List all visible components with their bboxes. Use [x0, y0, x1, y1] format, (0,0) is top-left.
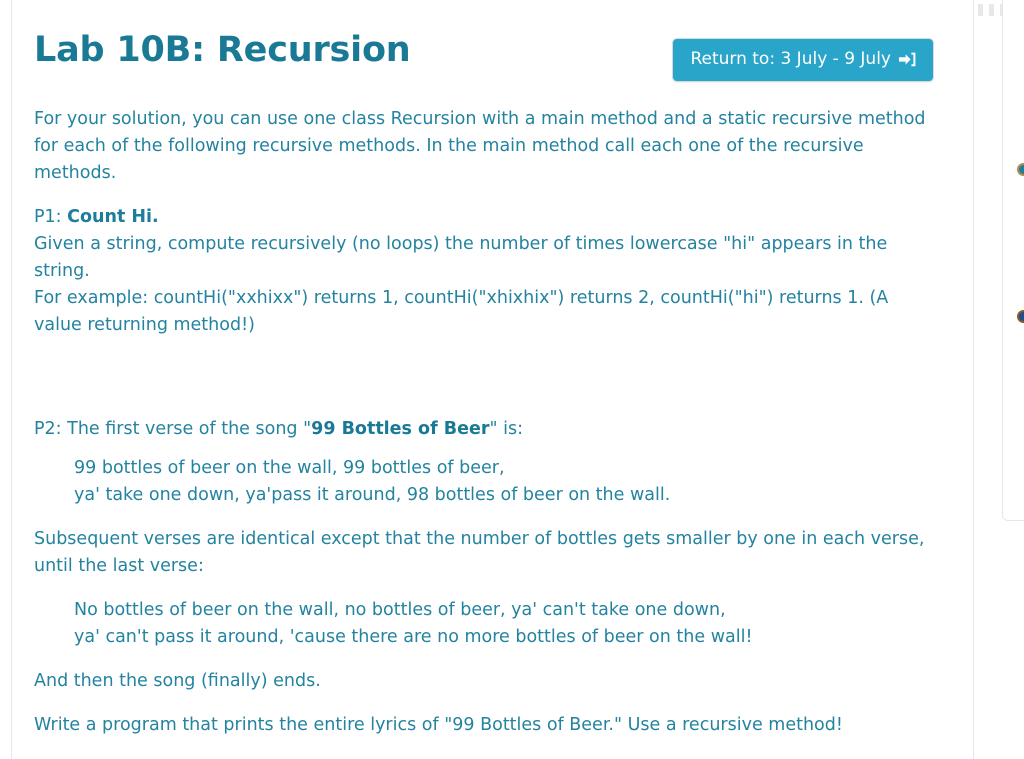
right-panel-list-item[interactable] — [1017, 310, 1024, 323]
sign-in-icon — [899, 52, 916, 67]
activity-content-inner: Lab 10B: Recursion Return to: 3 July - 9… — [12, 0, 973, 739]
spacer-paragraph — [34, 351, 939, 378]
subsequent-verses-paragraph: Subsequent verses are identical except t… — [34, 526, 939, 580]
right-panel-list-item[interactable] — [1017, 163, 1024, 176]
task-paragraph: Write a program that prints the entire l… — [34, 712, 939, 739]
last-verse-block: No bottles of beer on the wall, no bottl… — [34, 597, 939, 651]
page-root: Lab 10B: Recursion Return to: 3 July - 9… — [0, 0, 1024, 759]
activity-header: Lab 10B: Recursion Return to: 3 July - 9… — [34, 30, 939, 82]
problem-1-title: Count Hi. — [67, 207, 159, 227]
first-verse-line-2: ya' take one down, ya'pass it around, 98… — [74, 482, 939, 509]
bullet-icon — [1017, 310, 1024, 323]
return-to-section-button[interactable]: Return to: 3 July - 9 July — [672, 38, 934, 82]
page-title: Lab 10B: Recursion — [34, 30, 411, 70]
activity-description: For your solution, you can use one class… — [34, 106, 939, 739]
return-button-label: Return to: 3 July - 9 July — [690, 51, 891, 68]
song-ending-paragraph: And then the song (finally) ends. — [34, 668, 939, 695]
bullet-icon — [1017, 163, 1024, 176]
activity-content-panel: Lab 10B: Recursion Return to: 3 July - 9… — [11, 0, 974, 759]
problem-1-heading-line: P1: Count Hi. — [34, 204, 939, 231]
last-verse-line-2: ya' can't pass it around, 'cause there a… — [74, 624, 939, 651]
first-verse-line-1: 99 bottles of beer on the wall, 99 bottl… — [74, 455, 939, 482]
problem-1-description: Given a string, compute recursively (no … — [34, 231, 939, 285]
problem-1-block: P1: Count Hi. Given a string, compute re… — [34, 204, 939, 339]
right-side-block-panel — [1002, 0, 1024, 521]
problem-1-prefix: P1: — [34, 207, 67, 227]
first-verse-block: 99 bottles of beer on the wall, 99 bottl… — [34, 455, 939, 509]
problem-2-intro-after: " is: — [490, 419, 524, 439]
last-verse-line-1: No bottles of beer on the wall, no bottl… — [74, 597, 939, 624]
problem-1-example: For example: countHi("xxhixx") returns 1… — [34, 285, 939, 339]
intro-paragraph: For your solution, you can use one class… — [34, 106, 939, 187]
problem-2-intro: P2: The first verse of the song "99 Bott… — [34, 416, 939, 443]
song-title: 99 Bottles of Beer — [311, 419, 489, 439]
problem-2-intro-before: P2: The first verse of the song " — [34, 419, 311, 439]
